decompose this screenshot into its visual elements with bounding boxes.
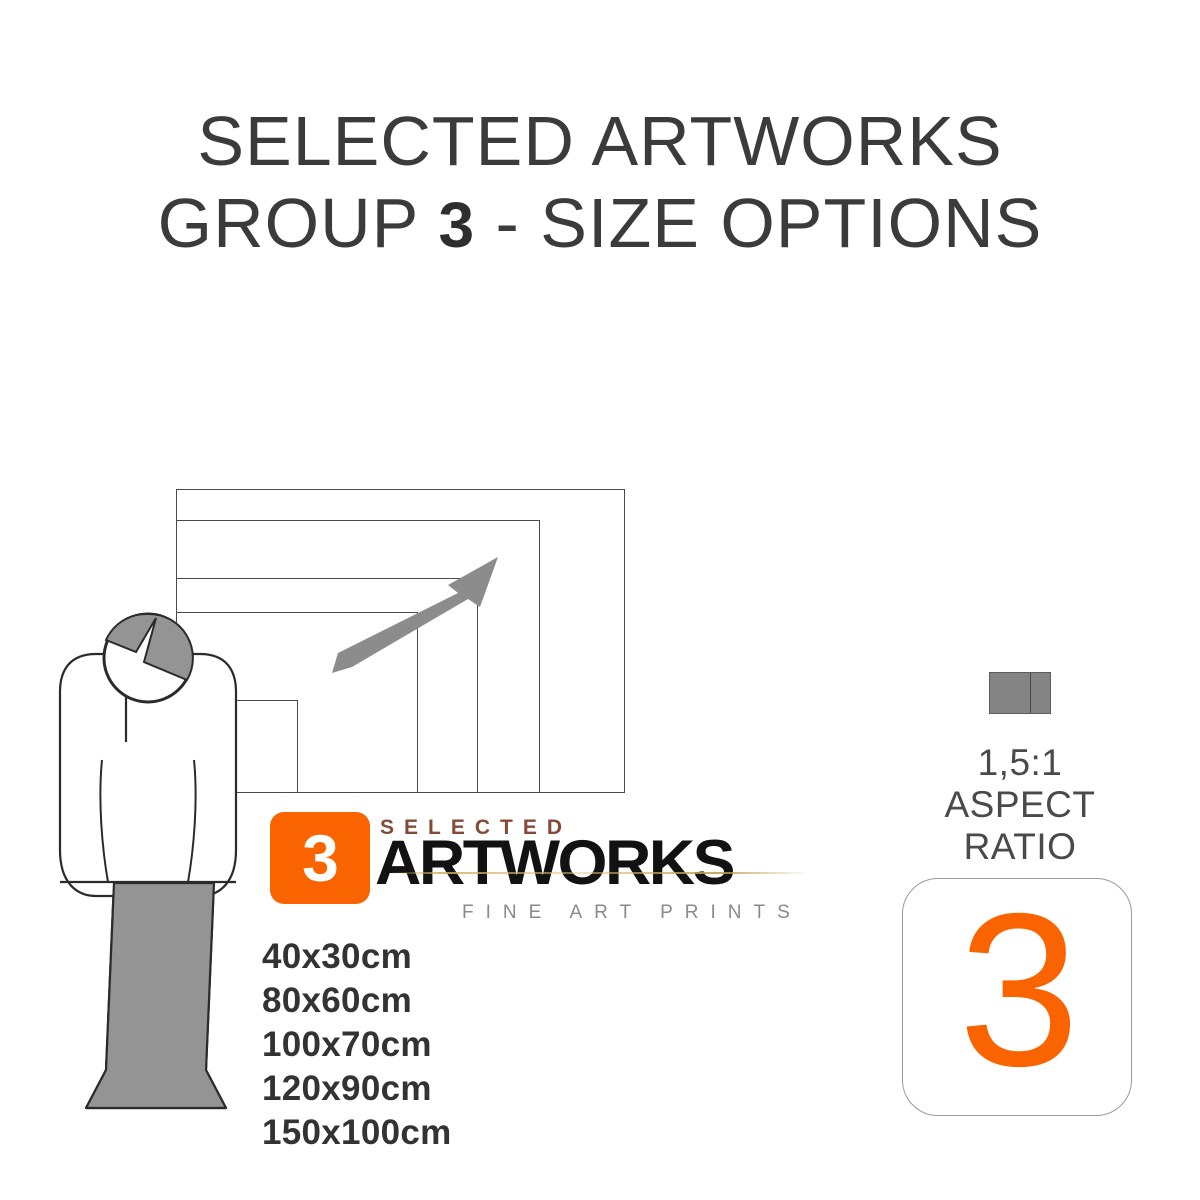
poster-canvas: SELECTED ARTWORKS GROUP 3 - SIZE OPTIONS [0, 0, 1200, 1200]
size-options-list: 40x30cm 80x60cm 100x70cm 120x90cm 150x10… [262, 935, 452, 1155]
title-group-prefix: GROUP [158, 184, 439, 262]
size-option-1: 40x30cm [262, 935, 452, 979]
size-option-3: 100x70cm [262, 1023, 452, 1067]
group-number-value: 3 [958, 882, 1075, 1100]
brand-logo: 3 SELECTED ARTWORKS FINE ART PRINTS [270, 812, 850, 922]
logo-strike-decoration [390, 872, 810, 874]
group-number-card: 3 [902, 878, 1132, 1116]
title-group-suffix: - SIZE OPTIONS [475, 184, 1042, 262]
size-option-4: 120x90cm [262, 1067, 452, 1111]
aspect-ratio-text: 1,5:1 ASPECT RATIO [900, 742, 1140, 868]
aspect-ratio-panel: 1,5:1 ASPECT RATIO [900, 672, 1140, 868]
aspect-ratio-label-1: ASPECT [900, 784, 1140, 826]
growth-arrow [330, 555, 530, 675]
logo-group-badge: 3 [270, 812, 370, 904]
page-title: SELECTED ARTWORKS GROUP 3 - SIZE OPTIONS [0, 100, 1200, 266]
logo-word-artworks: ARTWORKS [375, 832, 733, 895]
aspect-ratio-value: 1,5:1 [900, 742, 1140, 784]
aspect-swatch-divider [1030, 673, 1032, 713]
title-line-2: GROUP 3 - SIZE OPTIONS [0, 182, 1200, 266]
title-line-1: SELECTED ARTWORKS [0, 100, 1200, 182]
size-option-2: 80x60cm [262, 979, 452, 1023]
human-scale-figure [30, 600, 290, 1160]
size-option-5: 150x100cm [262, 1111, 452, 1155]
logo-tagline: FINE ART PRINTS [462, 902, 802, 924]
aspect-ratio-label-2: RATIO [900, 826, 1140, 868]
logo-group-number: 3 [302, 825, 338, 891]
title-group-number: 3 [439, 189, 476, 261]
aspect-ratio-swatch-icon [989, 672, 1051, 714]
arrow-icon [330, 555, 530, 675]
person-icon [30, 600, 290, 1160]
